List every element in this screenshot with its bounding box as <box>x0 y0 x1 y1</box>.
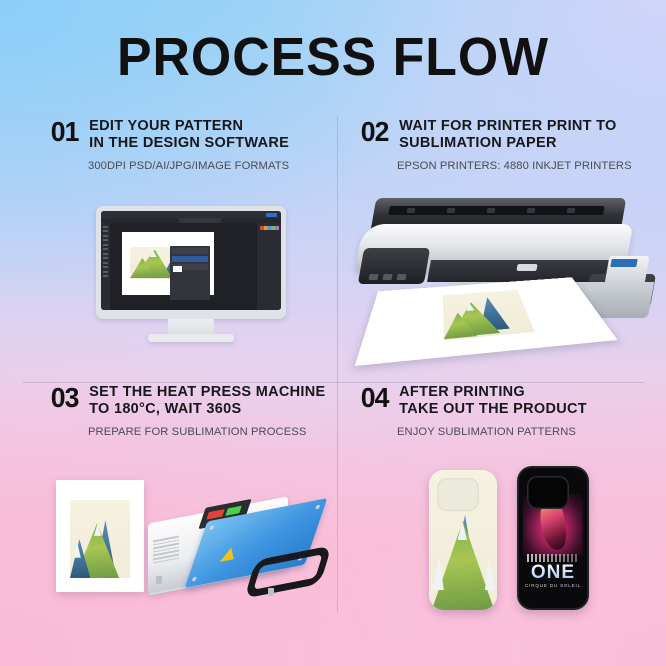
printer-brand-logo <box>516 264 537 271</box>
camera-cutout <box>527 476 569 509</box>
step-01-heading-line1: EDIT YOUR PATTERN <box>89 118 243 134</box>
step-04-subtitle: ENJOY SUBLIMATION PATTERNS <box>337 426 666 438</box>
mountain-artwork <box>443 290 535 341</box>
step-04-heading-line2: TAKE OUT THE PRODUCT <box>399 401 587 418</box>
step-01-heading: EDIT YOUR PATTERN IN THE DESIGN SOFTWARE <box>89 118 289 152</box>
step-01-number: 01 <box>51 118 79 145</box>
step-02-heading-line1: WAIT FOR PRINTER PRINT TO <box>399 118 616 134</box>
step-01-subtitle: 300DPI PSD/AI/JPG/IMAGE FORMATS <box>0 160 337 172</box>
paper-artwork <box>443 290 535 341</box>
step-04-header: 04 AFTER PRINTING TAKE OUT THE PRODUCT <box>337 384 666 418</box>
step-04-number: 04 <box>361 384 389 411</box>
step-03-number: 03 <box>51 384 79 411</box>
printer-top-slot <box>388 206 605 215</box>
monitor-body <box>96 206 286 319</box>
step-01: 01 EDIT YOUR PATTERN IN THE DESIGN SOFTW… <box>0 118 337 382</box>
step-04: 04 AFTER PRINTING TAKE OUT THE PRODUCT E… <box>337 384 666 624</box>
heat-press-vent <box>153 535 179 564</box>
horizontal-divider <box>22 382 644 383</box>
window-controls <box>266 213 277 217</box>
software-toolbar <box>101 223 110 310</box>
printer-left-ink-bay <box>358 248 430 284</box>
phone-cases-illustration: ONE CIRQUE DU SOLEIL <box>367 464 627 614</box>
step-03-heading: SET THE HEAT PRESS MACHINE TO 180°C, WAI… <box>89 384 325 418</box>
phone-case-mountain <box>429 470 497 610</box>
software-menubar <box>101 211 281 218</box>
step-03: 03 SET THE HEAT PRESS MACHINE TO 180°C, … <box>0 384 337 624</box>
layers-panel <box>170 246 210 300</box>
phone-case-poster: ONE CIRQUE DU SOLEIL <box>517 466 589 610</box>
framed-print-artwork <box>70 500 130 578</box>
step-02-heading: WAIT FOR PRINTER PRINT TO SUBLIMATION PA… <box>399 118 616 152</box>
step-02-header: 02 WAIT FOR PRINTER PRINT TO SUBLIMATION… <box>337 118 666 152</box>
camera-cutout <box>437 478 479 511</box>
poster-signature <box>527 554 579 562</box>
step-03-heading-line1: SET THE HEAT PRESS MACHINE <box>89 384 325 400</box>
printer-illustration <box>359 198 654 348</box>
heat-press-illustration <box>140 476 315 598</box>
step-02-heading-line2: SUBLIMATION PAPER <box>399 135 616 152</box>
monitor-illustration <box>96 206 286 341</box>
software-right-panels <box>257 223 281 310</box>
color-swatches-icon <box>260 226 279 230</box>
step-04-heading-line1: AFTER PRINTING <box>399 384 525 400</box>
page-title: PROCESS FLOW <box>13 28 652 86</box>
step-01-heading-line2: IN THE DESIGN SOFTWARE <box>89 135 289 152</box>
poster-wordmark: ONE <box>519 562 587 584</box>
step-01-header: 01 EDIT YOUR PATTERN IN THE DESIGN SOFTW… <box>0 118 337 152</box>
step-02: 02 WAIT FOR PRINTER PRINT TO SUBLIMATION… <box>337 118 666 382</box>
framed-print <box>56 480 144 592</box>
step-04-heading: AFTER PRINTING TAKE OUT THE PRODUCT <box>399 384 587 418</box>
monitor-stand-base <box>148 334 234 342</box>
poster-footer-text: CIRQUE DU SOLEIL <box>519 583 587 588</box>
step-03-header: 03 SET THE HEAT PRESS MACHINE TO 180°C, … <box>0 384 337 418</box>
step-02-subtitle: EPSON PRINTERS: 4880 INKJET PRINTERS <box>337 160 666 172</box>
step-03-subtitle: PREPARE FOR SUBLIMATION PROCESS <box>0 426 337 438</box>
software-canvas-area <box>110 223 257 304</box>
step-03-heading-line2: TO 180°C, WAIT 360S <box>89 401 325 418</box>
monitor-screen <box>101 211 281 310</box>
infographic-page: PROCESS FLOW 01 EDIT YOUR PATTERN IN THE… <box>0 0 666 666</box>
printer-lcd-screen <box>610 259 637 267</box>
printed-sublimation-paper <box>355 277 618 366</box>
mountain-artwork <box>70 500 130 578</box>
document-canvas <box>122 232 214 295</box>
step-02-number: 02 <box>361 118 389 145</box>
